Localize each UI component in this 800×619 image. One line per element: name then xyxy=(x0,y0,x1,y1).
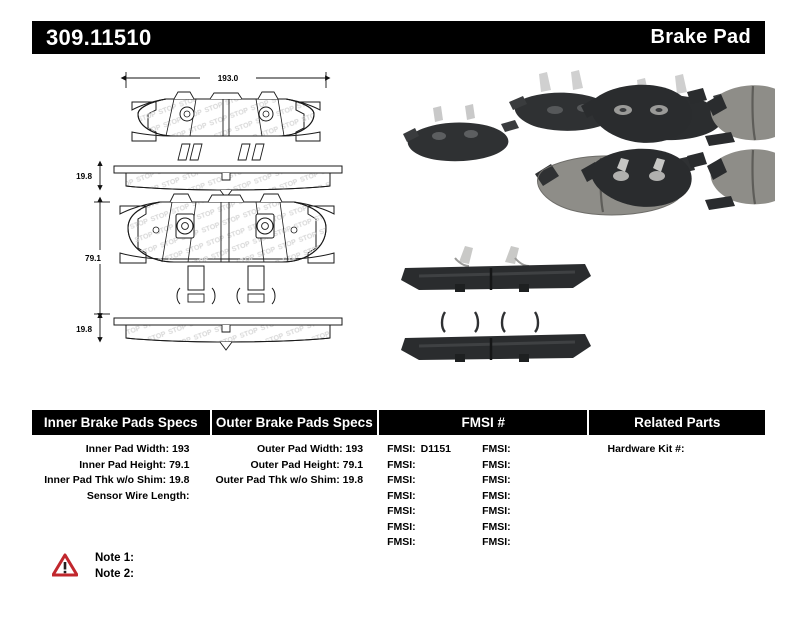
product-photo-edge-pair xyxy=(401,246,591,362)
fmsi-row: FMSI:D1151 xyxy=(387,442,482,458)
product-photo-panel xyxy=(395,62,775,382)
fmsi-row: FMSI: xyxy=(482,442,577,458)
product-type-label: Brake Pad xyxy=(650,26,751,49)
column-header-outer-specs: Outer Brake Pads Specs xyxy=(212,410,378,435)
fmsi-row: FMSI: xyxy=(482,504,577,520)
fmsi-value xyxy=(511,459,516,471)
outer-spec-row: Outer Pad Thk w/o Shim: 19.8 xyxy=(212,473,378,489)
fmsi-label: FMSI: xyxy=(387,536,416,548)
pad-main-face-view xyxy=(120,194,334,304)
notes-section: Note 1: Note 2: xyxy=(52,550,134,582)
note-2: Note 2: xyxy=(95,566,134,582)
inner-specs-cell: Inner Pad Width: 193 Inner Pad Height: 7… xyxy=(32,442,210,551)
related-parts-cell: Hardware Kit #: xyxy=(589,442,765,551)
thickness-dimension-bottom-label: 19.8 xyxy=(76,325,92,334)
column-header-related-parts: Related Parts xyxy=(589,410,765,435)
fmsi-label: FMSI: xyxy=(482,490,511,502)
width-dimension: 193.0 xyxy=(126,71,326,88)
outer-spec-row: Outer Pad Height: 79.1 xyxy=(212,458,378,474)
part-number: 309.11510 xyxy=(46,25,151,51)
outer-specs-cell: Outer Pad Width: 193 Outer Pad Height: 7… xyxy=(212,442,378,551)
fmsi-value xyxy=(416,521,421,533)
column-header-fmsi: FMSI # xyxy=(379,410,587,435)
width-dimension-label: 193.0 xyxy=(218,74,239,83)
fmsi-row: FMSI: xyxy=(387,473,482,489)
height-dimension: 79.1 xyxy=(78,202,110,314)
technical-drawing-panel: STOP 193.0 xyxy=(70,62,390,382)
title-bar: 309.11510 Brake Pad xyxy=(32,21,765,54)
fmsi-value xyxy=(511,505,516,517)
fmsi-column-left: FMSI:D1151 FMSI: FMSI: FMSI: FMSI: FMSI:… xyxy=(387,442,482,551)
fmsi-label: FMSI: xyxy=(387,459,416,471)
thickness-dimension-top: 19.8 xyxy=(76,166,100,186)
inner-spec-row: Inner Pad Thk w/o Shim: 19.8 xyxy=(32,473,210,489)
fmsi-value xyxy=(416,474,421,486)
fmsi-value xyxy=(511,521,516,533)
fmsi-label: FMSI: xyxy=(387,490,416,502)
fmsi-label: FMSI: xyxy=(482,459,511,471)
fmsi-label: FMSI: xyxy=(482,443,511,455)
pad-top-face-view xyxy=(132,92,320,160)
pad-edge-view-top xyxy=(114,166,342,198)
fmsi-cell: FMSI:D1151 FMSI: FMSI: FMSI: FMSI: FMSI:… xyxy=(379,442,587,551)
fmsi-row: FMSI: xyxy=(387,535,482,551)
note-1: Note 1: xyxy=(95,550,134,566)
fmsi-label: FMSI: xyxy=(482,536,511,548)
fmsi-row: FMSI: xyxy=(482,458,577,474)
fmsi-label: FMSI: xyxy=(387,443,416,455)
column-header-inner-specs: Inner Brake Pads Specs xyxy=(32,410,210,435)
fmsi-value: D1151 xyxy=(416,443,451,455)
fmsi-row: FMSI: xyxy=(482,473,577,489)
specifications-table: Inner Brake Pads Specs Outer Brake Pads … xyxy=(32,410,765,551)
fmsi-column-right: FMSI: FMSI: FMSI: FMSI: FMSI: FMSI: FMSI… xyxy=(482,442,577,551)
fmsi-label: FMSI: xyxy=(387,505,416,517)
height-dimension-label: 79.1 xyxy=(85,254,101,263)
table-body-row: Inner Pad Width: 193 Inner Pad Height: 7… xyxy=(32,442,765,551)
pad-edge-view-bottom xyxy=(114,318,342,350)
fmsi-value xyxy=(416,459,421,471)
fmsi-row: FMSI: xyxy=(482,489,577,505)
fmsi-label: FMSI: xyxy=(482,505,511,517)
fmsi-row: FMSI: xyxy=(387,489,482,505)
fmsi-value xyxy=(416,490,421,502)
inner-spec-row: Sensor Wire Length: xyxy=(32,489,210,505)
fmsi-value xyxy=(511,536,516,548)
fmsi-label: FMSI: xyxy=(387,474,416,486)
fmsi-label: FMSI: xyxy=(482,474,511,486)
thickness-dimension-bottom: 19.8 xyxy=(76,318,100,338)
fmsi-row: FMSI: xyxy=(482,520,577,536)
related-part-row: Hardware Kit #: xyxy=(589,442,765,458)
table-header-row: Inner Brake Pads Specs Outer Brake Pads … xyxy=(32,410,765,435)
warning-triangle-icon xyxy=(52,553,78,577)
fmsi-row: FMSI: xyxy=(482,535,577,551)
outer-spec-row: Outer Pad Width: 193 xyxy=(212,442,378,458)
fmsi-value xyxy=(416,536,421,548)
fmsi-value xyxy=(511,490,516,502)
fmsi-label: FMSI: xyxy=(482,521,511,533)
product-photo-grid xyxy=(581,85,775,210)
inner-spec-row: Inner Pad Width: 193 xyxy=(32,442,210,458)
fmsi-row: FMSI: xyxy=(387,504,482,520)
fmsi-label: FMSI: xyxy=(387,521,416,533)
inner-spec-row: Inner Pad Height: 79.1 xyxy=(32,458,210,474)
fmsi-value xyxy=(511,443,516,455)
fmsi-value xyxy=(416,505,421,517)
fmsi-value xyxy=(511,474,516,486)
fmsi-row: FMSI: xyxy=(387,520,482,536)
thickness-dimension-top-label: 19.8 xyxy=(76,172,92,181)
fmsi-row: FMSI: xyxy=(387,458,482,474)
